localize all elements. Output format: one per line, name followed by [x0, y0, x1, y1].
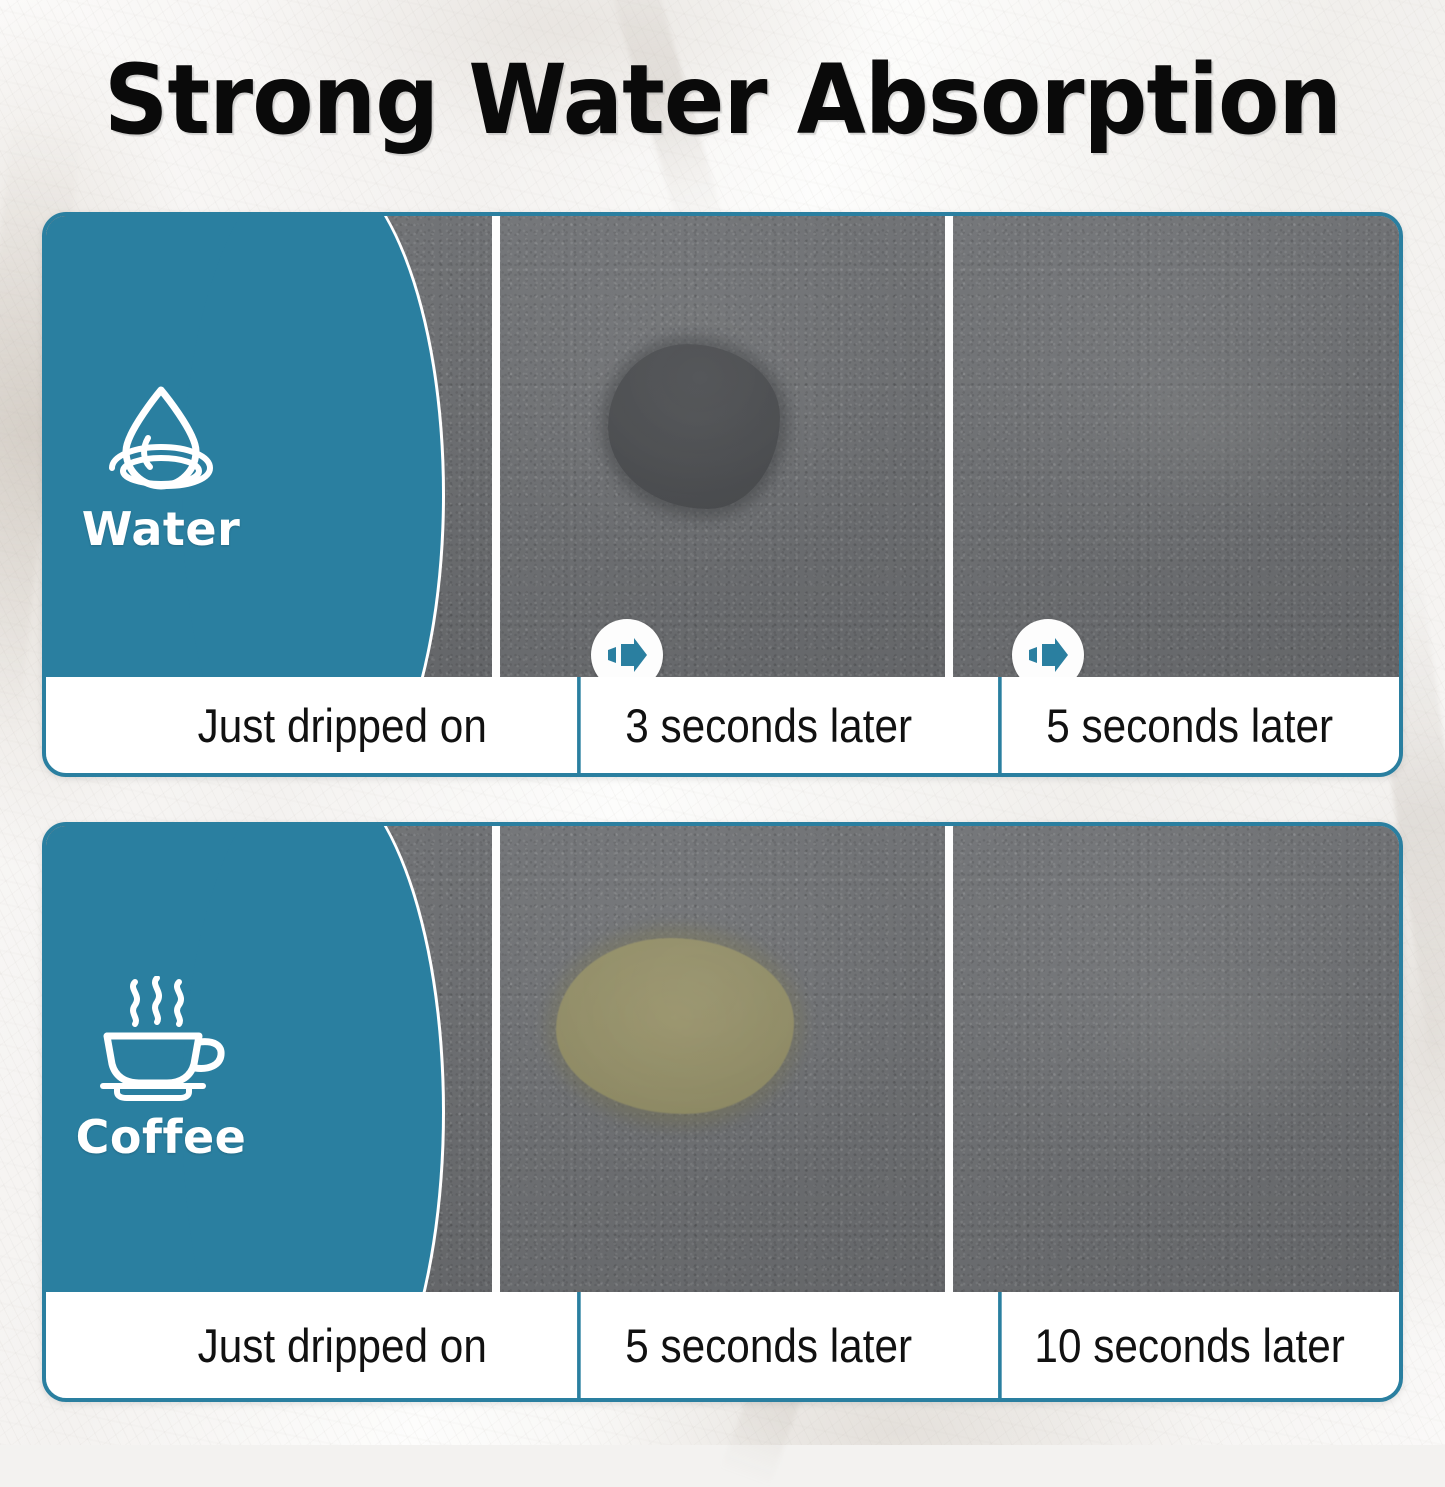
water-demo-card: Water Just dripped on 3 seconds later 5 …: [42, 212, 1403, 777]
water-residue-dry: [1073, 336, 1373, 526]
coffee-panel-10-seconds: [945, 826, 1399, 1292]
water-caption-2: 3 seconds later: [577, 677, 957, 773]
page-title: Strong Water Absorption: [51, 44, 1395, 156]
coffee-caption-1: Just dripped on: [71, 1292, 530, 1398]
water-drop-ripple-icon: [46, 376, 276, 499]
water-panel-5-seconds: [945, 216, 1399, 677]
arrow-right-icon: [604, 635, 650, 675]
coffee-label: Coffee: [76, 1110, 247, 1164]
coffee-demo-card: Coffee Just dripped on 5 seconds later 1…: [42, 822, 1403, 1402]
water-stain-halo: [592, 328, 800, 528]
coffee-caption-3: 10 seconds later: [998, 1292, 1378, 1398]
water-stain-absorbing: [608, 344, 780, 509]
water-caption-1: Just dripped on: [71, 677, 530, 773]
water-panel-3-seconds: [492, 216, 946, 677]
coffee-residue-dry: [1073, 946, 1373, 1136]
water-caption-row: Just dripped on 3 seconds later 5 second…: [46, 677, 1399, 773]
arrow-right-icon: [1025, 635, 1071, 675]
coffee-panel-5-seconds: [492, 826, 946, 1292]
coffee-stain-halo: [538, 922, 816, 1132]
water-label: Water: [82, 502, 241, 556]
coffee-stain-absorbing: [556, 938, 794, 1114]
coffee-cup-steam-icon: [46, 976, 276, 1107]
coffee-caption-2: 5 seconds later: [577, 1292, 957, 1398]
coffee-caption-row: Just dripped on 5 seconds later 10 secon…: [46, 1292, 1399, 1398]
water-caption-3: 5 seconds later: [998, 677, 1378, 773]
